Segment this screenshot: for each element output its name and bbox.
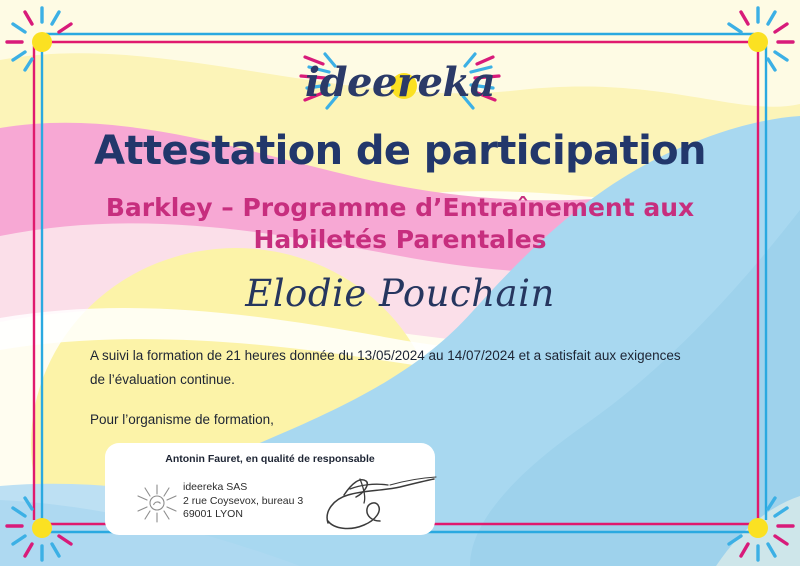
- program-subtitle-line-2: Habiletés Parentales: [100, 224, 700, 256]
- body-text: A suivi la formation de 21 heures donnée…: [90, 344, 690, 392]
- participant-name: Elodie Pouchain: [0, 272, 800, 315]
- page-title: Attestation de participation: [0, 128, 800, 174]
- organization-street: 2 rue Coysevox, bureau 3: [183, 495, 303, 509]
- certificate-content: ideereka Attestation de participation Ba…: [0, 0, 800, 566]
- certificate-page: ideereka Attestation de participation Ba…: [0, 0, 800, 566]
- handwritten-signature-icon: [320, 465, 440, 533]
- closing-text: Pour l’organisme de formation,: [90, 412, 590, 427]
- sunburst-mark-icon: [135, 481, 179, 525]
- signatory-name: Antonin Fauret, en qualité de responsabl…: [105, 453, 435, 465]
- program-subtitle: Barkley – Programme d’Entraînement aux H…: [100, 192, 700, 256]
- organization-name: ideereka SAS: [183, 481, 303, 495]
- brand-logo-wrap: ideereka: [285, 52, 515, 114]
- organization-address: ideereka SAS 2 rue Coysevox, bureau 3 69…: [183, 481, 303, 522]
- brand-logo: ideereka: [0, 52, 800, 119]
- signature-card: Antonin Fauret, en qualité de responsabl…: [105, 443, 435, 535]
- organization-city: 69001 LYON: [183, 508, 303, 522]
- brand-wordmark: ideereka: [285, 52, 515, 114]
- program-subtitle-line-1: Barkley – Programme d’Entraînement aux: [100, 192, 700, 224]
